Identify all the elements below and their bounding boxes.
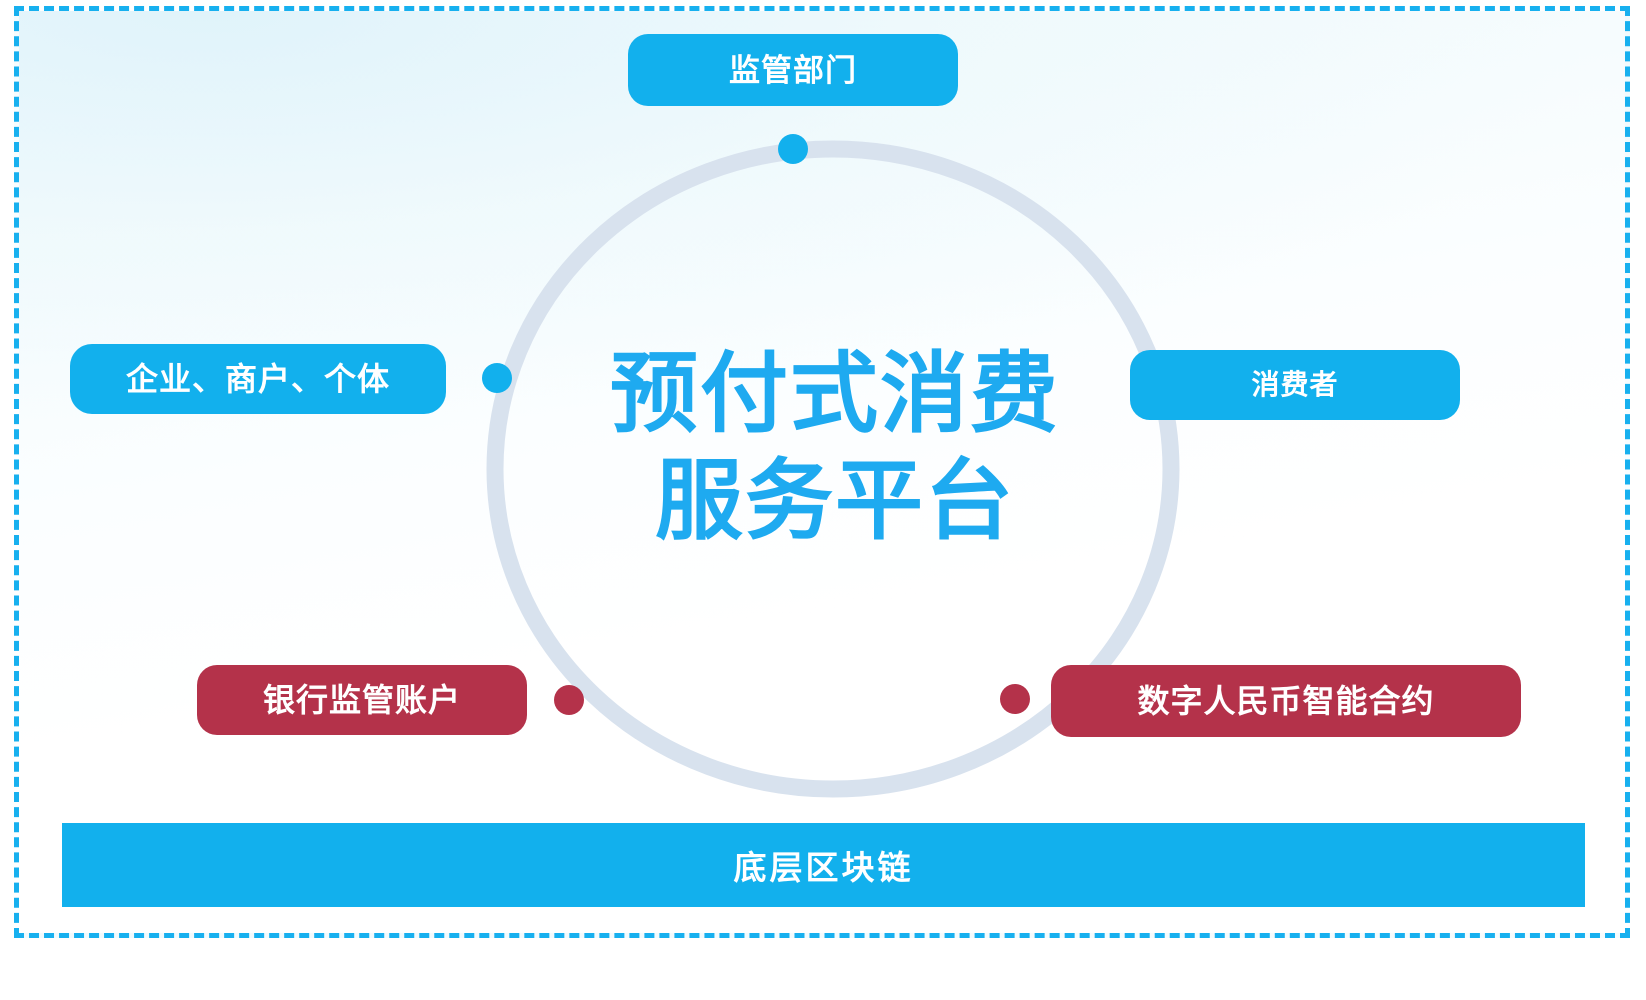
node-label-enterprises[interactable]: 企业、商户、个体: [70, 344, 446, 414]
center-title-line-1: 预付式消费: [520, 340, 1150, 447]
node-dot-bottom-right: [1000, 684, 1030, 714]
node-label-consumers[interactable]: 消费者: [1130, 350, 1460, 420]
node-label-regulator[interactable]: 监管部门: [628, 34, 958, 106]
diagram-canvas: 监管部门 企业、商户、个体 消费者 银行监管账户 数字人民币智能合约 预付式消费…: [0, 0, 1646, 1000]
center-title: 预付式消费 服务平台: [520, 340, 1150, 555]
node-label-digital-rmb-smart-contract[interactable]: 数字人民币智能合约: [1051, 665, 1521, 737]
center-title-line-2: 服务平台: [520, 447, 1150, 554]
node-dot-top: [778, 134, 808, 164]
node-dot-left: [482, 363, 512, 393]
foundation-bar-blockchain[interactable]: 底层区块链: [62, 823, 1585, 907]
node-label-bank-supervision-account[interactable]: 银行监管账户: [197, 665, 527, 735]
node-dot-bottom-left: [554, 685, 584, 715]
